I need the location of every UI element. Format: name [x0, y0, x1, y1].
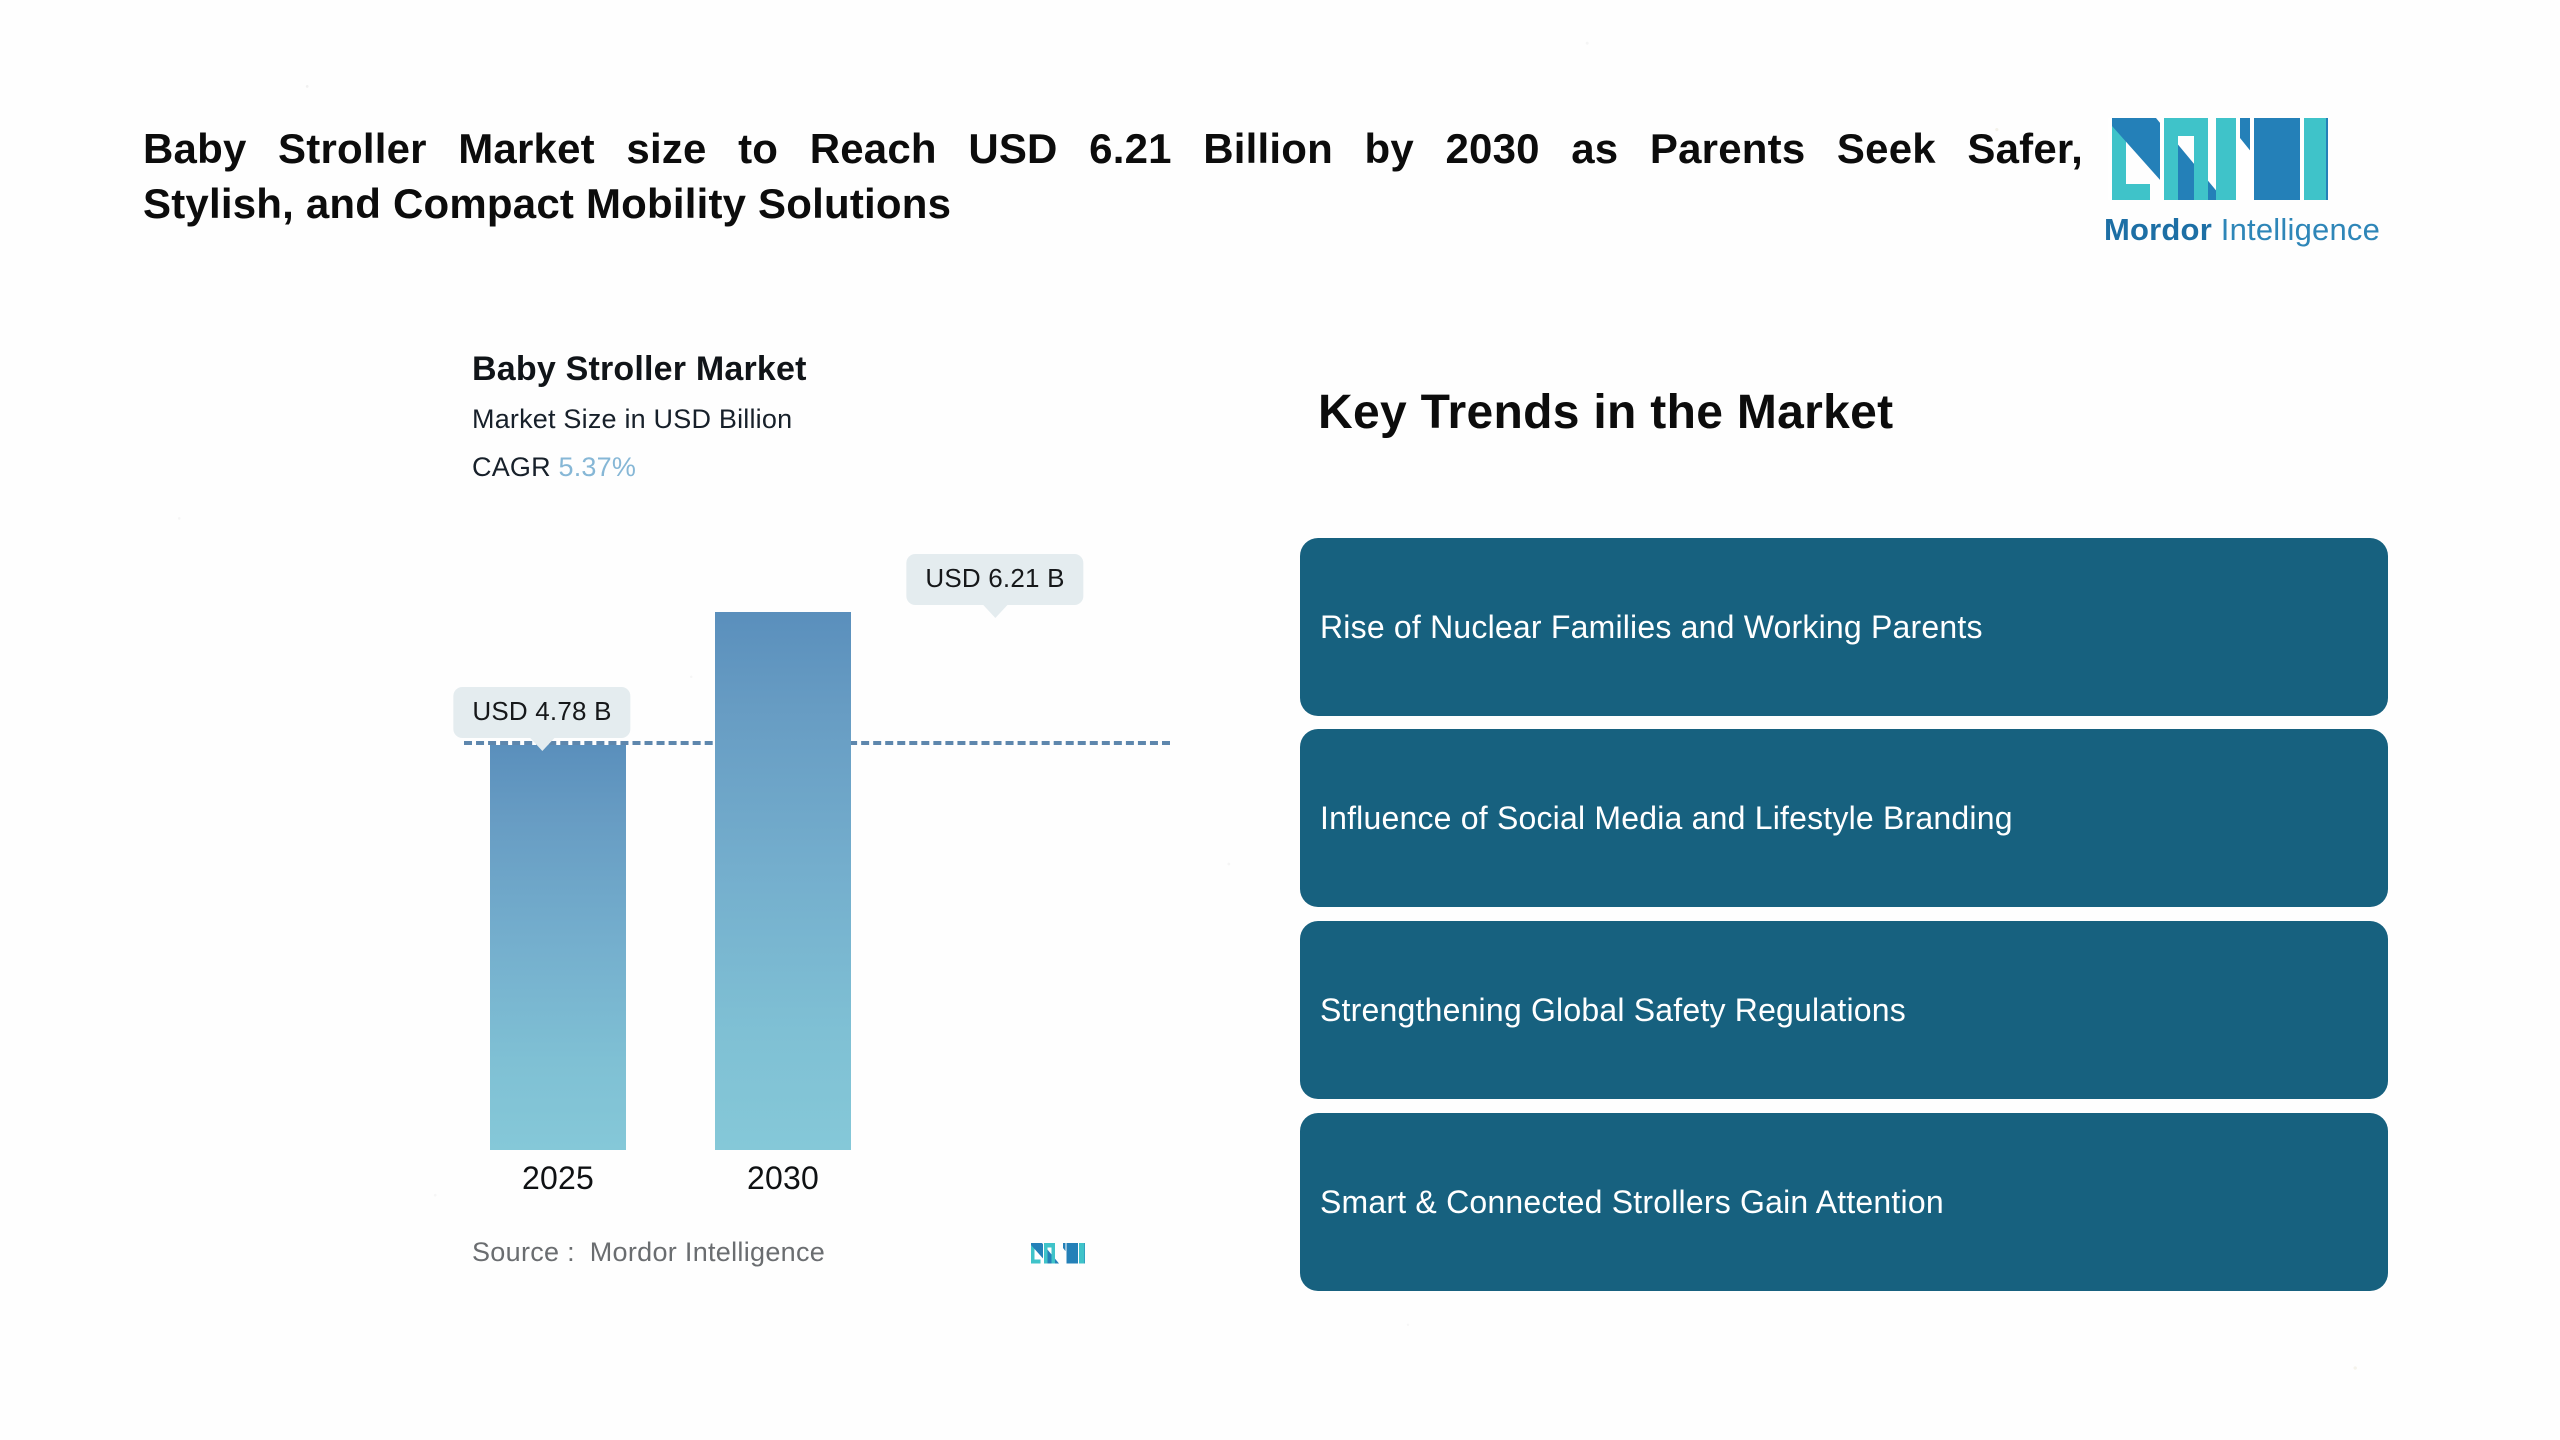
trend-card-4[interactable]: Smart & Connected Strollers Gain Attenti…: [1300, 1113, 2388, 1291]
data-label-2030: USD 6.21 B: [906, 554, 1083, 605]
brand-wordmark: Mordor Intelligence: [2104, 212, 2414, 248]
trend-card-4-label: Smart & Connected Strollers Gain Attenti…: [1300, 1182, 1944, 1222]
data-label-2025: USD 4.78 B: [453, 687, 630, 738]
chart-panel: Baby Stroller Market Market Size in USD …: [0, 0, 1250, 1440]
mordor-mi-monogram-icon: [2104, 96, 2328, 204]
x-axis-label-2025: 2025: [458, 1160, 658, 1197]
brand-word-intelligence: Intelligence: [2221, 212, 2380, 247]
trend-card-2-label: Influence of Social Media and Lifestyle …: [1300, 798, 2013, 838]
x-axis-label-2030: 2030: [683, 1160, 883, 1197]
trend-card-1[interactable]: Rise of Nuclear Families and Working Par…: [1300, 538, 2388, 716]
bar-2030: [715, 612, 851, 1150]
trend-card-2[interactable]: Influence of Social Media and Lifestyle …: [1300, 729, 2388, 907]
bar-chart-plot: USD 4.78 B USD 6.21 B 2025 2030: [0, 0, 1250, 1440]
trend-card-1-label: Rise of Nuclear Families and Working Par…: [1300, 607, 1983, 647]
bar-2025: [490, 745, 626, 1150]
source-label: Source :: [472, 1237, 575, 1267]
trend-card-3[interactable]: Strengthening Global Safety Regulations: [1300, 921, 2388, 1099]
trends-heading: Key Trends in the Market: [1318, 385, 1893, 440]
chart-source: Source : Mordor Intelligence: [472, 1237, 825, 1268]
trend-card-3-label: Strengthening Global Safety Regulations: [1300, 990, 1906, 1030]
brand-logo: Mordor Intelligence: [2104, 96, 2414, 256]
brand-word-mordor: Mordor: [2104, 212, 2212, 247]
source-mordor-mi-monogram-icon: [1029, 1228, 1085, 1274]
source-value: Mordor Intelligence: [590, 1237, 825, 1267]
infographic-page: Baby Stroller Market size to Reach USD 6…: [0, 0, 2560, 1440]
